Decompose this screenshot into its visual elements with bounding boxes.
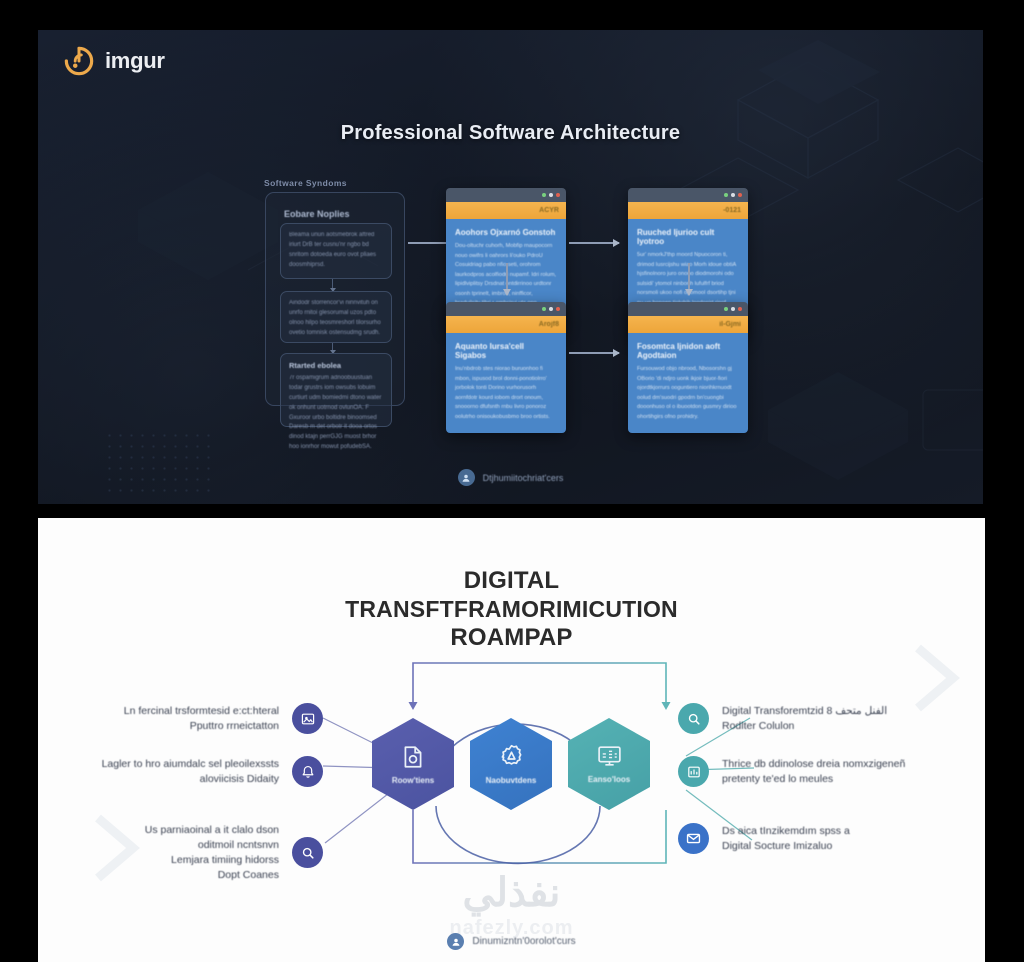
sub-card-body: Aindodr storrencor'vi ninnvituh on unrfo… — [289, 299, 383, 339]
card-heading: Fosomtca Ijnidon aoft Agodtaion — [637, 342, 739, 360]
sub-card[interactable]: Rtarted ebolea 7r ospamigrum adnoobuustu… — [280, 353, 392, 427]
card-body: Fosomtca Ijnidon aoft Agodtaion Fursouwo… — [628, 333, 748, 433]
hexagon-node-3[interactable]: Eanso'loos — [568, 718, 650, 810]
window-card[interactable]: Arojf8 Aquanto Iursa'cell Sigabos Inu'nb… — [446, 302, 566, 433]
roadmap-title-line2: TRANSFTFRAMORIMICUTION — [38, 595, 985, 623]
search-magnifier-icon — [678, 703, 709, 734]
left-item-3-line1: Us parniaoinal a it clalo dson — [145, 823, 279, 838]
left-item-2-line2: aloviicisis Didaity — [102, 772, 279, 787]
sub-card[interactable]: Bleama uñun aotsmebrok aftred iriurt DrB… — [280, 223, 392, 279]
data-report-icon — [678, 756, 709, 787]
image-card-icon — [292, 703, 323, 734]
right-item-2-line2: pretenty te'ed lo meules — [722, 772, 905, 787]
card-titlebar — [628, 188, 748, 202]
arrow-card2-to-card4 — [688, 263, 690, 295]
traffic-light-red-icon — [556, 307, 560, 311]
traffic-light-grey-icon — [731, 307, 735, 311]
card-titlebar — [628, 302, 748, 316]
group-container: Eobare Noplies Bleama uñun aotsmebrok af… — [265, 192, 405, 406]
bottom-credit-text: Dinumizntn'0orolot'curs — [472, 936, 575, 947]
top-credit: Dtjhumiitochriat'cers — [38, 469, 983, 486]
traffic-light-green-icon — [724, 193, 728, 197]
window-card[interactable]: il-Gjmi Fosomtca Ijnidon aoft Agodtaion … — [628, 302, 748, 433]
hexagon-label: Eanso'loos — [588, 775, 630, 784]
traffic-light-grey-icon — [549, 193, 553, 197]
card-text: Fursouwod objo nbrood, Nbosorshn gj OBor… — [637, 365, 739, 422]
connector-vertical — [332, 343, 333, 353]
right-item-2-line1: Thrice db ddinolose dreia nomxzigeneñ — [722, 757, 905, 772]
card-band-label: ACYR — [539, 207, 559, 214]
traffic-light-green-icon — [542, 193, 546, 197]
dot-grid-decor — [104, 430, 214, 500]
right-item-3-line2: Digital Socture Imizaluo — [722, 839, 850, 854]
right-item-1-line1: Digital Transforemtzid 8 الفنل متحف — [722, 704, 887, 719]
left-item-3-line3: Lemjara timiing hidorss — [145, 853, 279, 868]
traffic-light-red-icon — [738, 193, 742, 197]
imgur-wordmark: imgur — [105, 48, 165, 74]
roadmap-title-line1: DIGITAL — [38, 566, 985, 595]
search-magnifier-icon — [292, 837, 323, 868]
roadmap-title: DIGITAL TRANSFTFRAMORIMICUTION ROAMPAP — [38, 566, 985, 653]
left-item-2-line1: Lagler to hro aiumdalc sel pleoilexssts — [102, 757, 279, 772]
user-avatar-icon — [447, 933, 464, 950]
traffic-light-grey-icon — [731, 193, 735, 197]
left-item-2-text: Lagler to hro aiumdalc sel pleoilexssts … — [102, 757, 279, 787]
traffic-light-green-icon — [724, 307, 728, 311]
card-band-label: -0121 — [723, 207, 741, 214]
card-band: -0121 — [628, 202, 748, 219]
left-item-2[interactable]: Lagler to hro aiumdalc sel pleoilexssts … — [78, 756, 323, 787]
imgur-brand: imgur — [64, 46, 165, 76]
left-item-1-line2: Pputtro rrneictatton — [124, 719, 279, 734]
card-band-label: Arojf8 — [539, 321, 559, 328]
right-item-1[interactable]: Digital Transforemtzid 8 الفنل متحف Rodl… — [678, 703, 938, 734]
right-item-1-text: Digital Transforemtzid 8 الفنل متحف Rodl… — [722, 704, 887, 734]
sub-card-heading: Rtarted ebolea — [289, 361, 383, 370]
right-item-1-line2: Rodlter Colulon — [722, 719, 887, 734]
card-body: Aquanto Iursa'cell Sigabos Inu'nbdrob st… — [446, 333, 566, 433]
roadmap-title-line3: ROAMPAP — [38, 623, 985, 652]
hexagon-node-1[interactable]: Roow'tiens — [372, 718, 454, 810]
connector-vertical — [332, 279, 333, 291]
document-image-icon — [400, 744, 426, 770]
imgur-logo-icon — [64, 46, 94, 76]
gear-settings-icon — [498, 743, 525, 770]
card-heading: Ruuched Ijurioo cult Iyotroo — [637, 228, 739, 246]
traffic-light-grey-icon — [549, 307, 553, 311]
arrow-card1-to-card2 — [569, 242, 619, 244]
left-item-1-text: Ln fercinal trsformtesid e:ct:hteral Ppu… — [124, 704, 279, 734]
right-item-3-text: Ds aica tInzikemdım spss a Digital Soctu… — [722, 824, 850, 854]
hexagon-label: Roow'tiens — [392, 776, 434, 785]
right-item-3-line1: Ds aica tInzikemdım spss a — [722, 824, 850, 839]
right-item-3[interactable]: Ds aica tInzikemdım spss a Digital Soctu… — [678, 823, 938, 854]
sub-card-body: Bleama uñun aotsmebrok aftred iriurt DrB… — [289, 231, 383, 271]
screenshot-root: imgur Professional Software Architecture… — [0, 0, 1024, 962]
card-band: ACYR — [446, 202, 566, 219]
right-item-2[interactable]: Thrice db ddinolose dreia nomxzigeneñ pr… — [678, 756, 948, 787]
bottom-credit: Dinumizntn'0orolot'curs — [38, 933, 985, 950]
card-titlebar — [446, 302, 566, 316]
user-avatar-icon — [458, 469, 475, 486]
arrow-card3-to-card4 — [569, 352, 619, 354]
card-heading: Aquanto Iursa'cell Sigabos — [455, 342, 557, 360]
card-band-label: il-Gjmi — [719, 321, 741, 328]
page-title: Professional Software Architecture — [38, 122, 983, 145]
architecture-slide-panel: imgur Professional Software Architecture… — [38, 30, 983, 504]
traffic-light-red-icon — [556, 193, 560, 197]
arrow-card1-to-card3 — [506, 263, 508, 295]
traffic-light-red-icon — [738, 307, 742, 311]
card-text: Inu'nbdrob stes niorao buruonhoo fi mbon… — [455, 365, 557, 422]
card-band: il-Gjmi — [628, 316, 748, 333]
roadmap-slide-panel: DIGITAL TRANSFTFRAMORIMICUTION ROAMPAP R… — [38, 518, 985, 962]
sub-card-body: 7r ospamigrum adnoobuustuan todar grustr… — [289, 374, 383, 453]
bell-alert-icon — [292, 756, 323, 787]
right-item-2-text: Thrice db ddinolose dreia nomxzigeneñ pr… — [722, 757, 905, 787]
group-inner-title: Eobare Noplies — [284, 209, 350, 219]
card-titlebar — [446, 188, 566, 202]
arabic-watermark: نفذلي — [38, 870, 985, 916]
hexagon-node-2[interactable]: Naobuvtdens — [470, 718, 552, 810]
left-item-3-line2: oditmoil ncntsnvn — [145, 838, 279, 853]
left-item-1[interactable]: Ln fercinal trsformtesid e:ct:hteral Ppu… — [93, 703, 323, 734]
card-band: Arojf8 — [446, 316, 566, 333]
group-caption: Software Syndoms — [264, 178, 347, 188]
envelope-mail-icon — [678, 823, 709, 854]
monitor-dashboard-icon — [596, 744, 623, 769]
top-credit-text: Dtjhumiitochriat'cers — [483, 473, 564, 483]
traffic-light-green-icon — [542, 307, 546, 311]
hexagon-label: Naobuvtdens — [486, 776, 537, 785]
sub-card[interactable]: Aindodr storrencor'vi ninnvituh on unrfo… — [280, 291, 392, 343]
card-heading: Aoohors Ojxarnó Gonstoh — [455, 228, 557, 237]
left-item-1-line1: Ln fercinal trsformtesid e:ct:hteral — [124, 704, 279, 719]
